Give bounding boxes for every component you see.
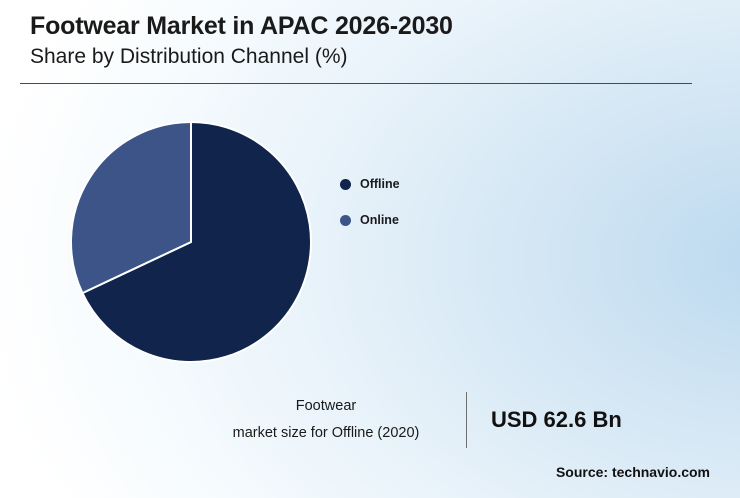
source-text: Source: technavio.com	[556, 464, 710, 480]
callout-label: Footwear market size for Offline (2020)	[198, 393, 466, 447]
callout-block: Footwear market size for Offline (2020) …	[198, 392, 698, 448]
callout-label-line2: market size for Offline (2020)	[198, 420, 454, 447]
legend-item-online: Online	[340, 208, 540, 232]
page-subtitle: Share by Distribution Channel (%)	[30, 44, 696, 69]
legend-label-offline: Offline	[360, 177, 400, 191]
legend-color-swatch-offline	[340, 179, 351, 190]
callout-value: USD 62.6 Bn	[467, 407, 622, 433]
chart-legend: Offline Online	[340, 172, 540, 244]
legend-color-swatch-online	[340, 215, 351, 226]
chart-page: Footwear Market in APAC 2026-2030 Share …	[0, 0, 740, 498]
title-block: Footwear Market in APAC 2026-2030 Share …	[30, 12, 696, 69]
title-divider	[20, 83, 692, 84]
pie-chart	[70, 121, 312, 363]
callout-label-line1: Footwear	[198, 393, 454, 420]
legend-label-online: Online	[360, 213, 399, 227]
legend-item-offline: Offline	[340, 172, 540, 196]
pie-chart-svg	[70, 121, 312, 363]
page-title: Footwear Market in APAC 2026-2030	[30, 12, 696, 42]
